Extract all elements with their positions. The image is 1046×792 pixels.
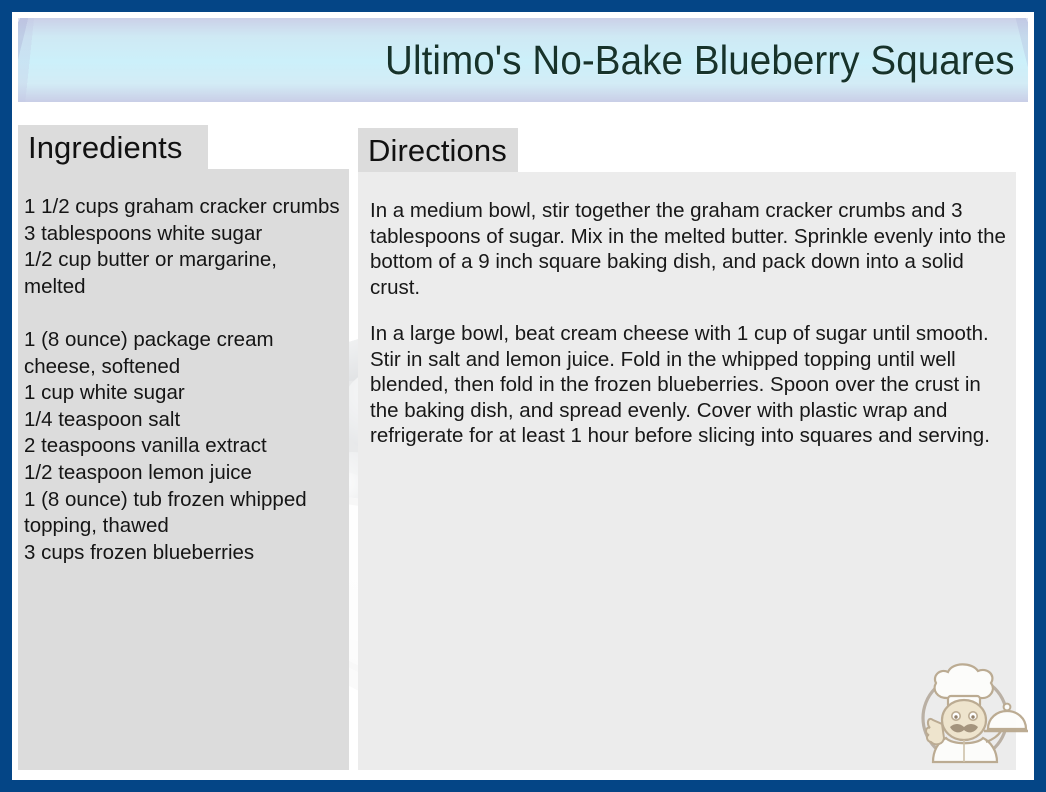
list-item: 1 (8 ounce) package cream cheese, soften… (24, 327, 344, 380)
list-item: 1 (8 ounce) tub frozen whipped topping, … (24, 487, 344, 540)
list-item: 3 tablespoons white sugar (24, 221, 344, 248)
chef-figure (926, 664, 1028, 762)
list-item: 3 cups frozen blueberries (24, 540, 344, 567)
chef-logo (902, 650, 1028, 776)
title-banner: Ultimo's No-Bake Blueberry Squares (18, 18, 1028, 102)
ingredient-group: 1 1/2 cups graham cracker crumbs 3 table… (24, 194, 344, 300)
list-item: 1/4 teaspoon salt (24, 407, 344, 434)
list-item: 1/2 teaspoon lemon juice (24, 460, 344, 487)
directions-text: In a medium bowl, stir together the grah… (370, 198, 1015, 449)
directions-heading: Directions (368, 135, 507, 166)
directions-paragraph: In a medium bowl, stir together the grah… (370, 198, 1015, 300)
list-item: 1/2 cup butter or margarine, melted (24, 247, 344, 300)
ingredients-list: 1 1/2 cups graham cracker crumbs 3 table… (24, 194, 344, 566)
ingredient-group: 1 (8 ounce) package cream cheese, soften… (24, 327, 344, 566)
list-item: 1 cup white sugar (24, 380, 344, 407)
list-item: 1 1/2 cups graham cracker crumbs (24, 194, 344, 221)
directions-paragraph: In a large bowl, beat cream cheese with … (370, 321, 1015, 449)
ingredients-heading: Ingredients (28, 132, 182, 163)
recipe-card: Ultimo's No-Bake Blueberry Squares (0, 0, 1046, 792)
directions-heading-tab: Directions (358, 128, 518, 172)
list-item: 2 teaspoons vanilla extract (24, 433, 344, 460)
ingredients-heading-tab: Ingredients (18, 125, 208, 169)
page-title: Ultimo's No-Bake Blueberry Squares (385, 40, 1028, 81)
